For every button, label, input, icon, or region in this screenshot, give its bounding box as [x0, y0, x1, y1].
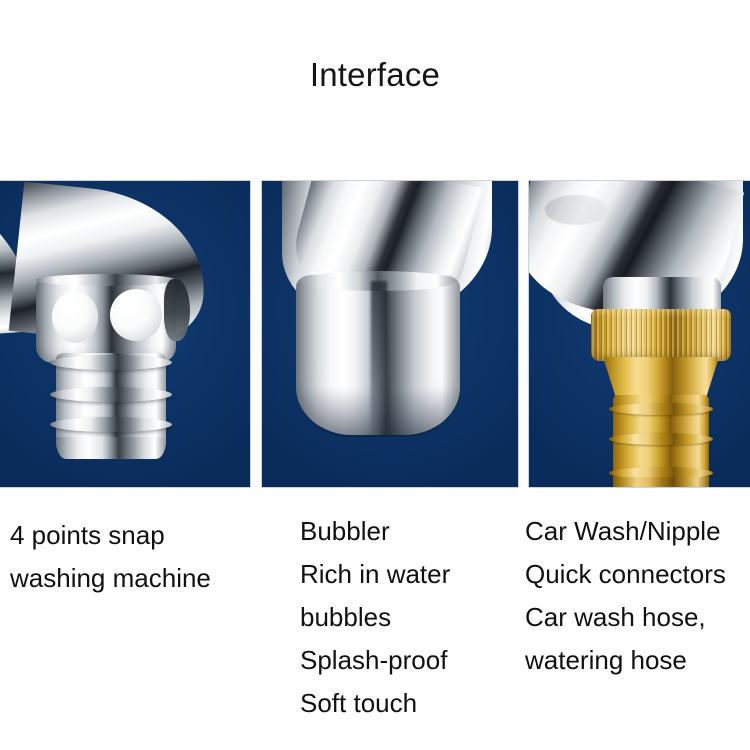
caption-area: 4 points snap washing machine Bubbler Ri… — [0, 488, 750, 750]
adapter-ring-2 — [50, 387, 172, 402]
adapter-ring-1 — [50, 355, 172, 370]
product-image-panel-2 — [261, 180, 519, 488]
adapter-outlet — [56, 437, 166, 459]
caption-block-2: Bubbler Rich in water bubbles Splash-pro… — [300, 510, 450, 725]
snap-clip-notch — [164, 279, 190, 341]
caption-line: bubbles — [300, 596, 450, 639]
caption-line: watering hose — [525, 639, 726, 682]
caption-line: Bubbler — [300, 510, 450, 553]
faucet-snap-adapter-illustration — [0, 181, 250, 487]
engraved-logo — [545, 195, 607, 225]
caption-line: Splash-proof — [300, 639, 450, 682]
product-image-panel-3 — [528, 180, 750, 488]
caption-line: 4 points snap — [10, 514, 211, 557]
product-image-strip — [0, 180, 750, 488]
caption-line: Car wash hose, — [525, 596, 726, 639]
caption-line: Car Wash/Nipple — [525, 510, 726, 553]
brass-knurled-collar — [591, 309, 731, 361]
faucet-bubbler-illustration — [262, 181, 518, 487]
brass-ring-2 — [609, 433, 713, 445]
brass-ring-1 — [609, 403, 713, 415]
caption-line: washing machine — [10, 557, 211, 600]
bubbler-cap — [296, 275, 460, 435]
snap-point-2 — [110, 289, 162, 341]
caption-line: Rich in water — [300, 553, 450, 596]
caption-line: Soft touch — [300, 682, 450, 725]
snap-point-1 — [52, 291, 98, 343]
faucet-brass-connector-illustration — [529, 181, 750, 487]
infographic-page: Interface — [0, 0, 750, 750]
caption-block-1: 4 points snap washing machine — [10, 514, 211, 600]
caption-block-3: Car Wash/Nipple Quick connectors Car was… — [525, 510, 726, 682]
page-title: Interface — [0, 55, 750, 95]
caption-line: Quick connectors — [525, 553, 726, 596]
brass-outlet — [613, 477, 709, 488]
adapter-ring-3 — [50, 417, 172, 432]
product-image-panel-1 — [0, 180, 251, 488]
